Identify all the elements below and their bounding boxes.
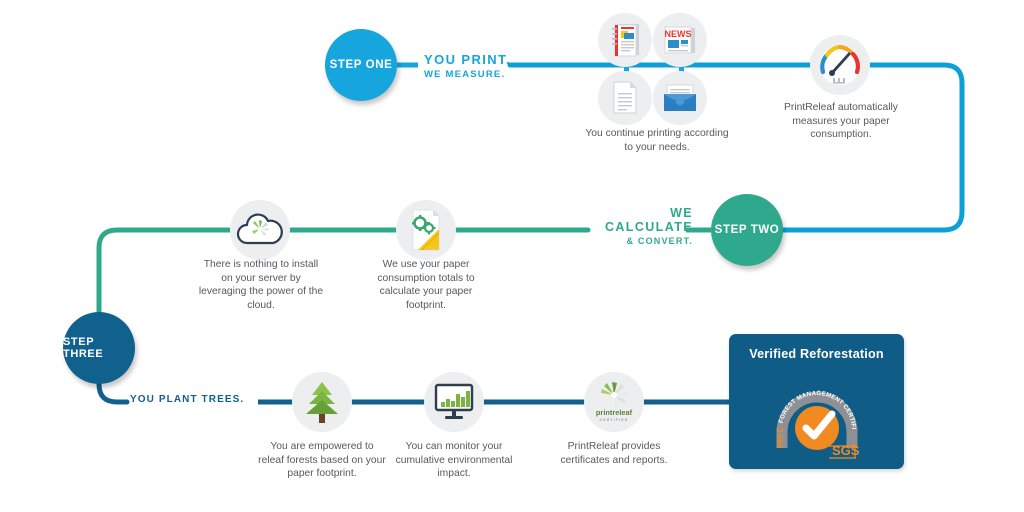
printreleaf-subtitle: CERTIFIED (600, 418, 629, 422)
step-three-circle[interactable]: STEP THREE (63, 312, 135, 384)
speedometer-gauge-icon (810, 35, 870, 95)
pine-tree-icon (292, 372, 352, 432)
envelope-icon (653, 71, 707, 125)
sgs-certification-badge: FOREST MANAGEMENT CERTIFICATION PEFC SGS (772, 372, 862, 460)
step-two-circle[interactable]: STEP TWO (711, 194, 783, 266)
caption-monitor: You can monitor your cumulative environm… (390, 440, 518, 481)
step-one-circle[interactable]: STEP ONE (325, 29, 397, 101)
panel-title: Verified Reforestation (729, 347, 904, 361)
step-three-headline-line1: YOU PLANT TREES. (130, 394, 244, 405)
document-gears-ruler-icon (396, 200, 456, 260)
printreleaf-wordmark: printreleaf (596, 408, 633, 417)
caption-certificates: PrintReleaf provides certificates and re… (550, 440, 678, 467)
step-one-headline-line1: YOU PRINT. (424, 52, 511, 67)
infographic-canvas: STEP ONE YOU PRINT. WE MEASURE. (0, 0, 1024, 512)
caption-measures: PrintReleaf automatically measures your … (765, 101, 917, 142)
step-two-headline-line2: & CONVERT. (588, 236, 693, 246)
verified-reforestation-panel[interactable]: Verified Reforestation FOREST MANAGEMENT… (729, 334, 904, 469)
caption-cloud: There is nothing to install on your serv… (197, 258, 325, 312)
sgs-label: SGS (832, 443, 860, 458)
step-two-label: STEP TWO (715, 224, 780, 236)
cloud-leaf-icon (230, 200, 290, 260)
step-three-label: STEP THREE (63, 336, 135, 360)
newspaper-icon: NEWS (653, 13, 707, 67)
step-one-headline-line2: WE MEASURE. (424, 69, 511, 80)
step-two-headline: WE CALCULATE & CONVERT. (588, 206, 693, 246)
step-one-headline: YOU PRINT. WE MEASURE. (424, 52, 511, 80)
step-two-headline-line1: WE CALCULATE (588, 206, 693, 234)
blank-document-icon (598, 71, 652, 125)
step-one-label: STEP ONE (330, 59, 393, 71)
step-three-headline: YOU PLANT TREES. (130, 394, 244, 405)
svg-text:NEWS: NEWS (665, 29, 692, 39)
caption-footprint: We use your paper consumption totals to … (362, 258, 490, 312)
pefc-label: PEFC (776, 426, 785, 448)
printreleaf-certified-icon: printreleaf CERTIFIED (584, 372, 644, 432)
caption-printing: You continue printing according to your … (582, 127, 732, 154)
caption-releaf: You are empowered to releaf forests base… (258, 440, 386, 481)
monitor-bar-chart-icon (424, 372, 484, 432)
illustrated-document-icon (598, 13, 652, 67)
